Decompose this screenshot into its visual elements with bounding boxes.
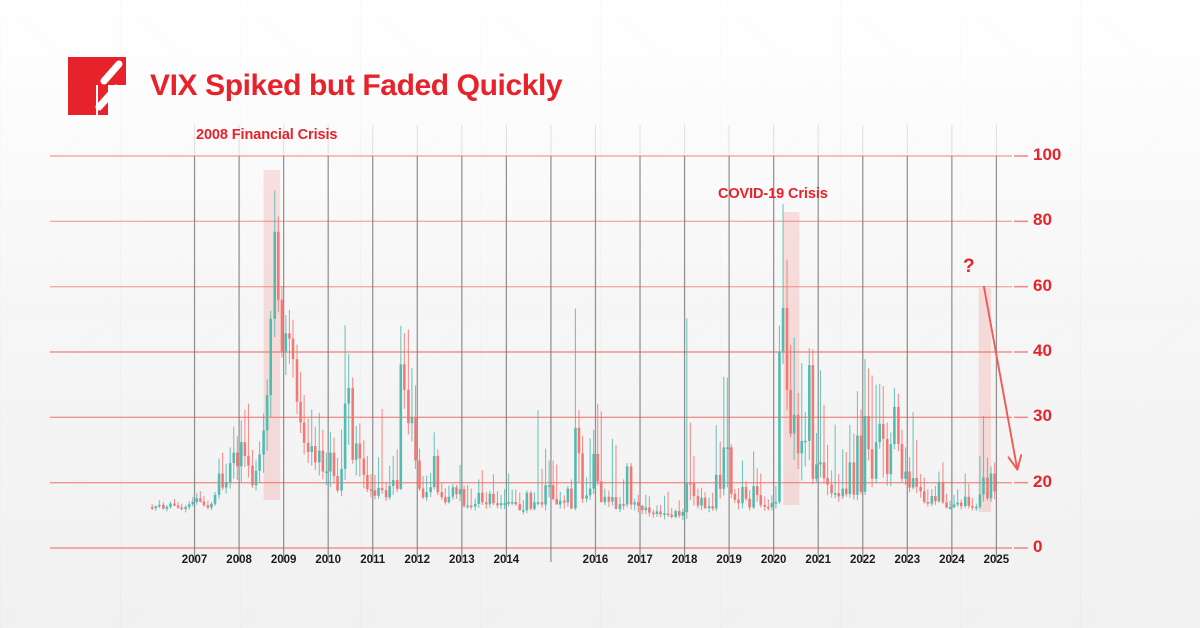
y-tick-80: 80 [1033, 210, 1052, 230]
page-title: VIX Spiked but Faded Quickly [150, 69, 562, 103]
y-tick-100: 100 [1033, 145, 1061, 165]
x-tick-2014: 2014 [476, 554, 536, 566]
y-tick-20: 20 [1033, 472, 1052, 492]
y-tick-0: 0 [1033, 537, 1042, 557]
x-tick-2025: 2025 [966, 554, 1026, 566]
y-tick-40: 40 [1033, 341, 1052, 361]
vertical-gridlines [195, 125, 997, 562]
annotation-crisis-covid: COVID-19 Crisis [718, 186, 828, 202]
horizontal-gridlines [50, 156, 1028, 548]
header: VIX Spiked but Faded Quickly [66, 55, 562, 117]
y-tick-60: 60 [1033, 276, 1052, 296]
brand-logo [66, 55, 128, 117]
y-tick-30: 30 [1033, 406, 1052, 426]
annotation-crisis-2008: 2008 Financial Crisis [196, 127, 337, 143]
annotation-future-unknown: ? [963, 256, 975, 278]
